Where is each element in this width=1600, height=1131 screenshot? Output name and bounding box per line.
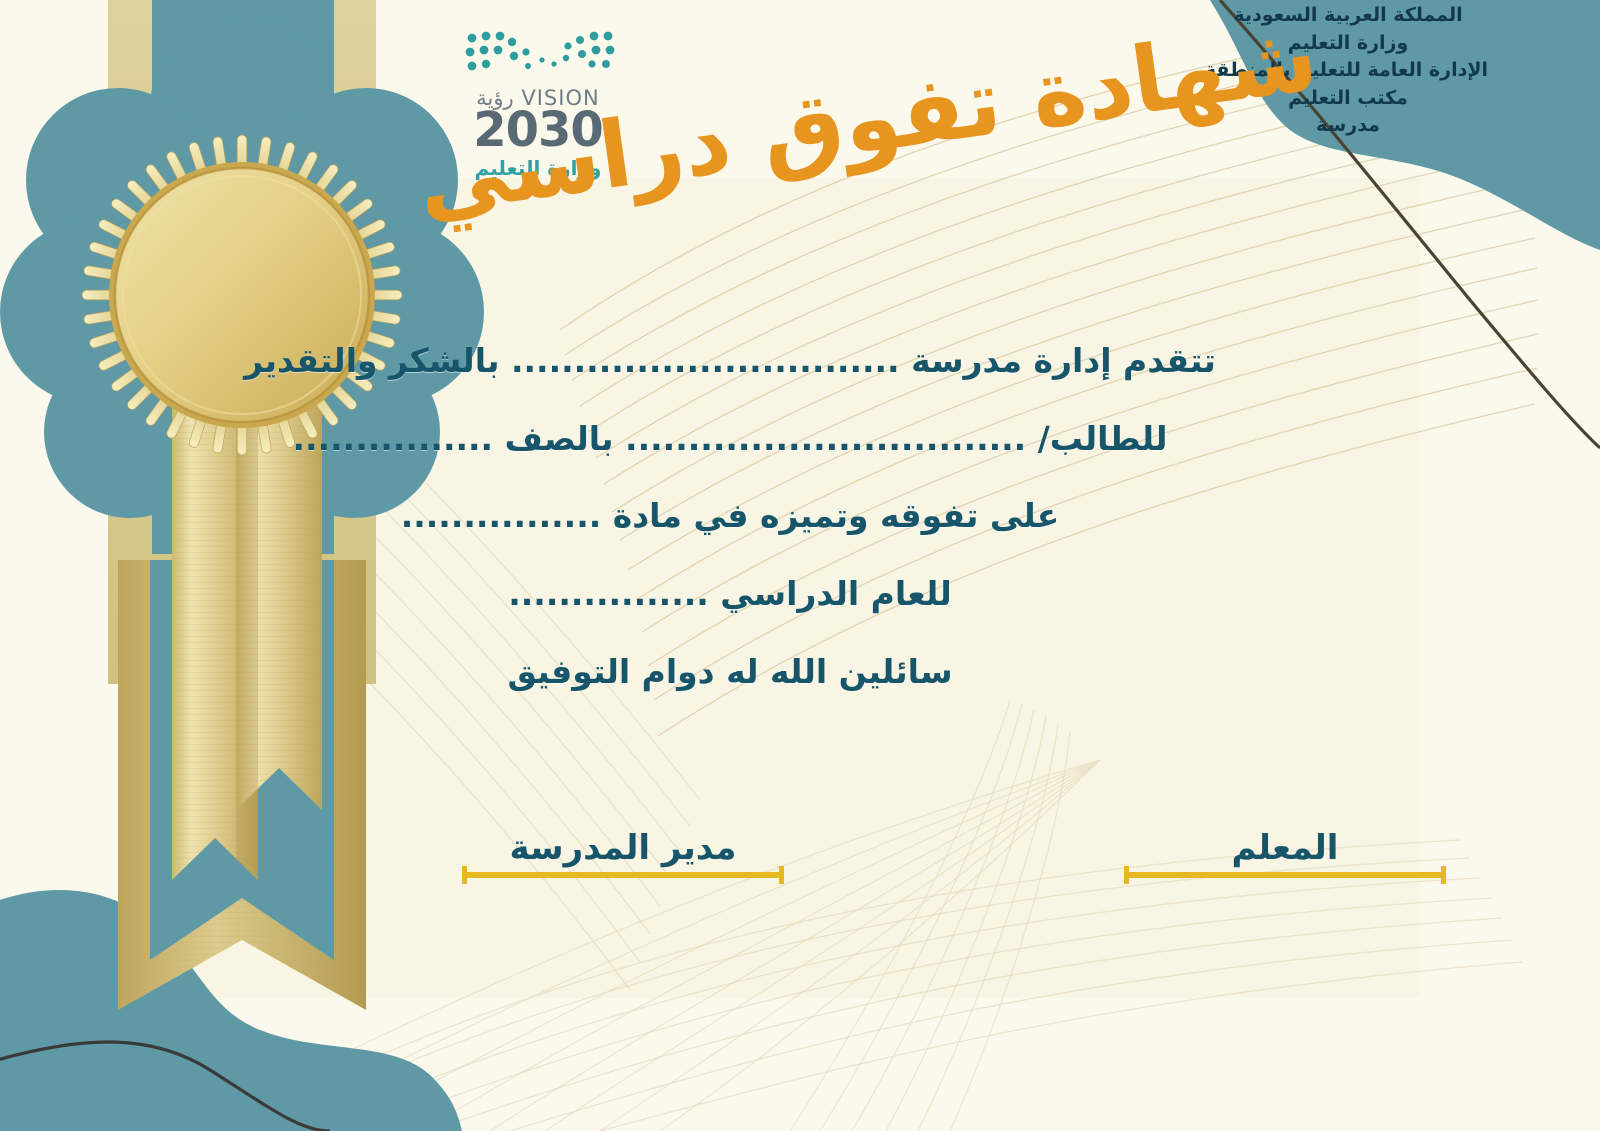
signature-principal-line: [462, 872, 784, 878]
signature-teacher-label: المعلم: [1124, 828, 1446, 868]
body-line-5: سائلين الله له دوام التوفيق: [0, 641, 1460, 704]
signature-principal: مدير المدرسة: [462, 828, 784, 878]
body-line-3: على تفوقه وتميزه في مادة ...............…: [0, 485, 1460, 548]
body-line-4: للعام الدراسي ................: [0, 563, 1460, 626]
body-line-2: للطالب/ ................................…: [0, 408, 1460, 471]
ministry-of-education-dots-emblem: [438, 28, 638, 88]
body-line-1: تتقدم إدارة مدرسة ......................…: [0, 330, 1460, 393]
certificate-canvas: المملكة العربية السعودية وزارة التعليم ا…: [0, 0, 1600, 1131]
dark-curve-bottom: [0, 1042, 330, 1131]
signature-teacher: المعلم: [1124, 828, 1446, 878]
certificate-body: تتقدم إدارة مدرسة ......................…: [0, 330, 1460, 718]
signature-teacher-line: [1124, 872, 1446, 878]
signature-principal-label: مدير المدرسة: [462, 828, 784, 868]
